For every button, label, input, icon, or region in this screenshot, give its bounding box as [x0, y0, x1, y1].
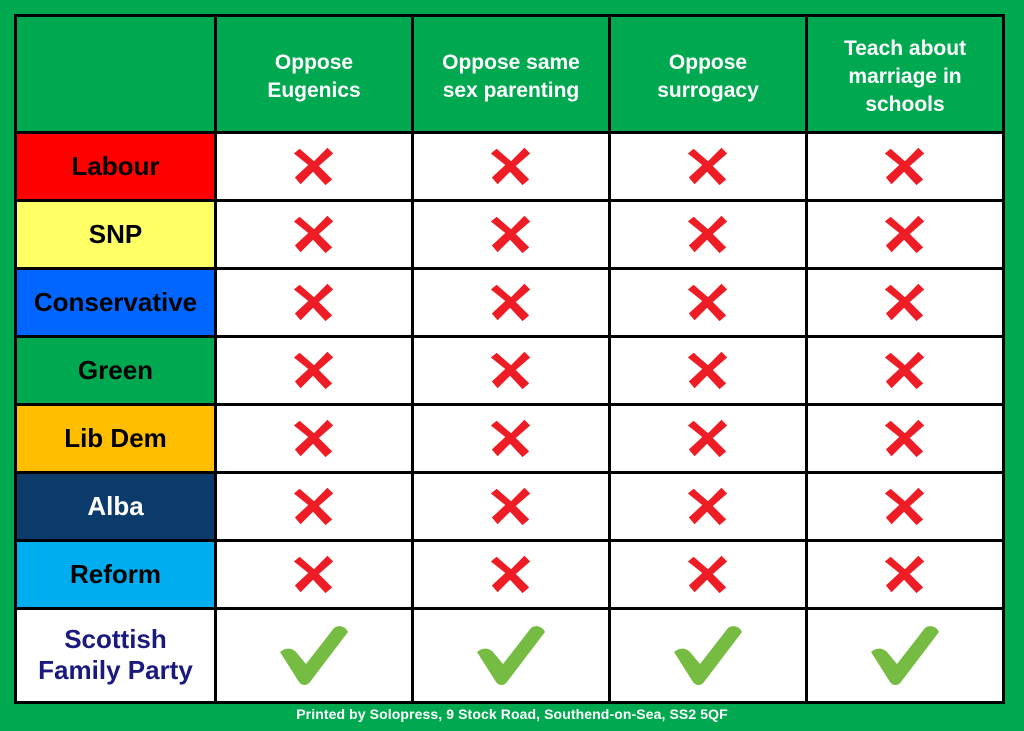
cross-icon	[414, 134, 608, 199]
policy-mark-cell-marriage-in-schools	[807, 540, 1004, 608]
policy-mark-cell-same-sex-parenting	[413, 268, 610, 336]
cross-icon	[414, 406, 608, 471]
policy-mark-cell-eugenics	[216, 540, 413, 608]
policy-mark-cell-surrogacy	[610, 472, 807, 540]
column-header-oppose-same-sex-parenting: Oppose same sex parenting	[413, 16, 610, 133]
table-row: Labour	[16, 133, 1004, 201]
table-row: Alba	[16, 472, 1004, 540]
column-header-oppose-eugenics: Oppose Eugenics	[216, 16, 413, 133]
policy-mark-cell-marriage-in-schools	[807, 472, 1004, 540]
table-row: Conservative	[16, 268, 1004, 336]
policy-mark-cell-same-sex-parenting	[413, 200, 610, 268]
policy-mark-cell-eugenics	[216, 268, 413, 336]
policy-mark-cell-eugenics	[216, 200, 413, 268]
policy-mark-cell-marriage-in-schools	[807, 200, 1004, 268]
check-icon	[611, 610, 805, 701]
column-header-teach-about-marriage-in-schools: Teach about marriage in schools	[807, 16, 1004, 133]
column-header-oppose-surrogacy: Oppose surrogacy	[610, 16, 807, 133]
cross-icon	[808, 474, 1002, 539]
cross-icon	[217, 542, 411, 607]
cross-icon	[808, 338, 1002, 403]
policy-mark-cell-same-sex-parenting	[413, 608, 610, 702]
policy-mark-cell-surrogacy	[610, 133, 807, 201]
cross-icon	[217, 338, 411, 403]
cross-icon	[414, 202, 608, 267]
policy-mark-cell-eugenics	[216, 608, 413, 702]
cross-icon	[808, 406, 1002, 471]
policy-mark-cell-surrogacy	[610, 336, 807, 404]
check-icon	[414, 610, 608, 701]
party-name-cell: Alba	[16, 472, 216, 540]
policy-mark-cell-same-sex-parenting	[413, 472, 610, 540]
table-body: LabourSNPConservativeGreenLib DemAlbaRef…	[16, 133, 1004, 703]
cross-icon	[217, 474, 411, 539]
policy-mark-cell-surrogacy	[610, 540, 807, 608]
party-name-cell: Green	[16, 336, 216, 404]
party-name-cell: Labour	[16, 133, 216, 201]
cross-icon	[217, 406, 411, 471]
table-row: Lib Dem	[16, 404, 1004, 472]
cross-icon	[611, 406, 805, 471]
policy-mark-cell-same-sex-parenting	[413, 404, 610, 472]
cross-icon	[611, 202, 805, 267]
cross-icon	[611, 474, 805, 539]
cross-icon	[808, 134, 1002, 199]
policy-mark-cell-surrogacy	[610, 404, 807, 472]
cross-icon	[414, 542, 608, 607]
cross-icon	[808, 270, 1002, 335]
cross-icon	[611, 270, 805, 335]
party-policy-table: Oppose Eugenics Oppose same sex parentin…	[14, 14, 1005, 704]
party-policy-comparison-poster: Oppose Eugenics Oppose same sex parentin…	[0, 0, 1024, 731]
policy-mark-cell-marriage-in-schools	[807, 268, 1004, 336]
cross-icon	[808, 202, 1002, 267]
print-credit: Printed by Solopress, 9 Stock Road, Sout…	[0, 706, 1024, 722]
cross-icon	[217, 202, 411, 267]
cross-icon	[414, 270, 608, 335]
cross-icon	[414, 338, 608, 403]
check-icon	[217, 610, 411, 701]
table-header-row: Oppose Eugenics Oppose same sex parentin…	[16, 16, 1004, 133]
cross-icon	[414, 474, 608, 539]
table-row: SNP	[16, 200, 1004, 268]
party-name-cell: SNP	[16, 200, 216, 268]
party-name-cell: Reform	[16, 540, 216, 608]
table-row: Green	[16, 336, 1004, 404]
policy-mark-cell-eugenics	[216, 336, 413, 404]
policy-mark-cell-surrogacy	[610, 268, 807, 336]
policy-mark-cell-marriage-in-schools	[807, 133, 1004, 201]
policy-mark-cell-marriage-in-schools	[807, 404, 1004, 472]
party-name-cell: Conservative	[16, 268, 216, 336]
check-icon	[808, 610, 1002, 701]
policy-mark-cell-marriage-in-schools	[807, 608, 1004, 702]
policy-mark-cell-surrogacy	[610, 200, 807, 268]
cross-icon	[611, 542, 805, 607]
policy-mark-cell-eugenics	[216, 472, 413, 540]
policy-mark-cell-same-sex-parenting	[413, 540, 610, 608]
party-name-cell: Scottish Family Party	[16, 608, 216, 702]
policy-mark-cell-eugenics	[216, 404, 413, 472]
table-row: Scottish Family Party	[16, 608, 1004, 702]
cross-icon	[217, 134, 411, 199]
policy-mark-cell-surrogacy	[610, 608, 807, 702]
policy-mark-cell-eugenics	[216, 133, 413, 201]
policy-mark-cell-marriage-in-schools	[807, 336, 1004, 404]
cross-icon	[611, 338, 805, 403]
policy-mark-cell-same-sex-parenting	[413, 133, 610, 201]
party-name-cell: Lib Dem	[16, 404, 216, 472]
table-row: Reform	[16, 540, 1004, 608]
cross-icon	[611, 134, 805, 199]
policy-mark-cell-same-sex-parenting	[413, 336, 610, 404]
cross-icon	[808, 542, 1002, 607]
cross-icon	[217, 270, 411, 335]
header-corner-cell	[16, 16, 216, 133]
